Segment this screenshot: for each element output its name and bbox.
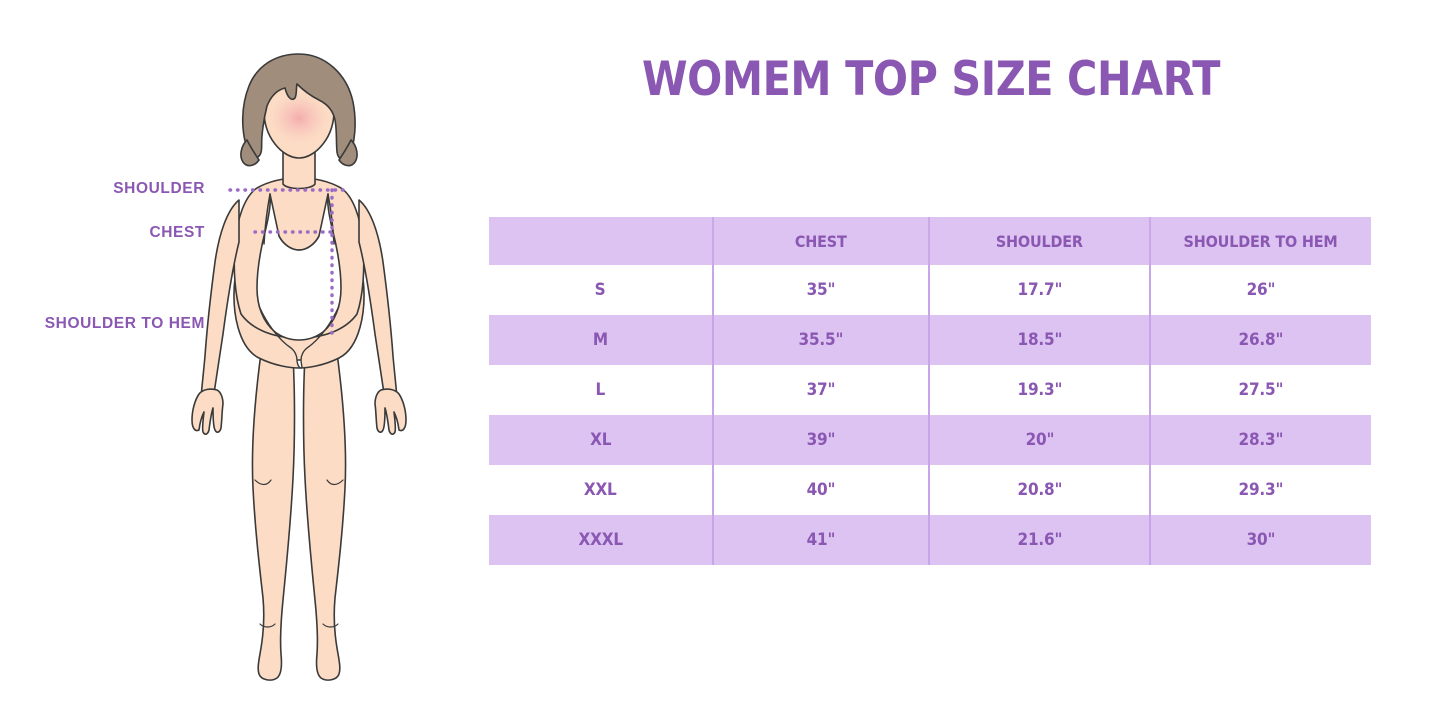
cell-shoulder-to-hem: 29.3"	[1150, 465, 1371, 515]
cell-size: M	[489, 315, 713, 365]
cell-chest: 39"	[713, 415, 929, 465]
cell-chest: 35.5"	[713, 315, 929, 365]
cell-shoulder: 17.7"	[929, 265, 1150, 315]
table-row: L 37" 19.3" 27.5"	[489, 365, 1371, 415]
column-header-shoulder-to-hem: SHOULDER TO HEM	[1150, 217, 1371, 265]
cell-shoulder-to-hem: 27.5"	[1150, 365, 1371, 415]
page-title: WOMEM TOP SIZE CHART	[539, 52, 1322, 107]
table-row: S 35" 17.7" 26"	[489, 265, 1371, 315]
cell-shoulder: 19.3"	[929, 365, 1150, 415]
column-header-shoulder: SHOULDER	[929, 217, 1150, 265]
cell-shoulder-to-hem: 26"	[1150, 265, 1371, 315]
table-row: XL 39" 20" 28.3"	[489, 415, 1371, 465]
column-header-chest: CHEST	[713, 217, 929, 265]
cell-shoulder: 18.5"	[929, 315, 1150, 365]
cell-size: XXL	[489, 465, 713, 515]
figure-illustration	[175, 48, 425, 688]
column-header-size	[489, 217, 713, 265]
left-leg	[252, 353, 294, 680]
cell-shoulder-to-hem: 30"	[1150, 515, 1371, 565]
cell-shoulder: 20.8"	[929, 465, 1150, 515]
cell-chest: 35"	[713, 265, 929, 315]
cell-chest: 40"	[713, 465, 929, 515]
table-row: XXXL 41" 21.6" 30"	[489, 515, 1371, 565]
table-header-row: CHEST SHOULDER SHOULDER TO HEM	[489, 217, 1371, 265]
cell-size: XXXL	[489, 515, 713, 565]
cell-shoulder: 21.6"	[929, 515, 1150, 565]
left-hand	[192, 389, 223, 434]
right-hand	[375, 389, 406, 434]
cell-size: XL	[489, 415, 713, 465]
cell-shoulder-to-hem: 28.3"	[1150, 415, 1371, 465]
measure-label-shoulder: SHOULDER	[113, 180, 205, 198]
cell-chest: 41"	[713, 515, 929, 565]
cell-size: L	[489, 365, 713, 415]
cell-shoulder-to-hem: 26.8"	[1150, 315, 1371, 365]
cell-shoulder: 20"	[929, 415, 1150, 465]
table-row: XXL 40" 20.8" 29.3"	[489, 465, 1371, 515]
cell-chest: 37"	[713, 365, 929, 415]
measure-label-shoulder-to-hem: SHOULDER TO HEM	[45, 315, 205, 333]
right-leg	[304, 353, 346, 680]
measure-label-chest: CHEST	[149, 224, 205, 242]
table-row: M 35.5" 18.5" 26.8"	[489, 315, 1371, 365]
size-chart-table: CHEST SHOULDER SHOULDER TO HEM S 35" 17.…	[489, 217, 1371, 565]
cell-size: S	[489, 265, 713, 315]
